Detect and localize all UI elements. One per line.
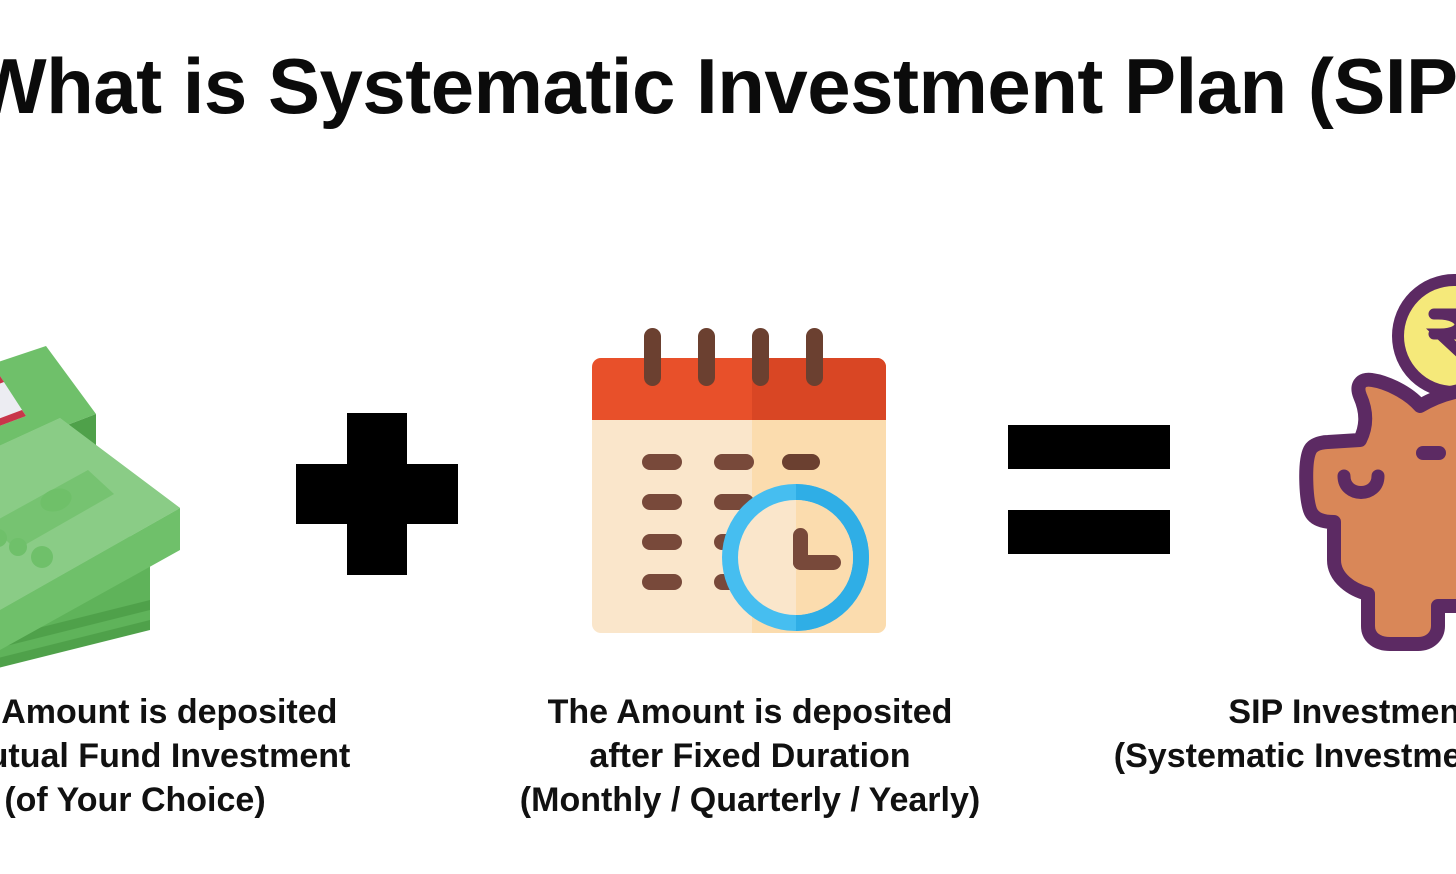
plus-operator [296,413,458,575]
calendar-ring [644,328,661,386]
clock-face [738,500,853,615]
infographic-page: What is Systematic Investment Plan (SIP) [0,0,1456,874]
plus-vertical-bar [347,413,407,575]
caption-line: (of Your Choice) [0,778,380,822]
piggy-bank-icon [1268,260,1456,660]
calendar-dash [782,454,820,470]
equals-bottom-bar [1008,510,1170,554]
piggy-eye [1416,446,1446,460]
caption-money: The Amount is deposited in Mutual Fund I… [0,690,380,822]
calendar-ring [752,328,769,386]
step-money: 100 20 [0,250,296,670]
clock-icon [722,484,869,631]
caption-line: The Amount is deposited [0,690,380,734]
caption-line: SIP Investment [1100,690,1456,734]
equals-top-bar [1008,425,1170,469]
caption-line: (Monthly / Quarterly / Yearly) [440,778,1060,822]
page-title: What is Systematic Investment Plan (SIP) [0,46,1456,128]
money-stack-icon: 100 20 [0,310,250,710]
calendar-ring [698,328,715,386]
calendar-dash [642,494,682,510]
caption-line: The Amount is deposited [440,690,1060,734]
piggy-body [1306,380,1456,644]
equals-operator [1008,425,1170,553]
caption-piggy: SIP Investment (Systematic Investment Pl… [1100,690,1456,778]
calendar-dash [714,454,754,470]
piggy-coin [1392,274,1456,398]
calendar-dash [642,534,682,550]
icon-row: 100 20 [0,250,1456,670]
caption-calendar: The Amount is deposited after Fixed Dura… [440,690,1060,822]
caption-line: in Mutual Fund Investment [0,734,380,778]
calendar-header [592,358,886,420]
calendar-clock-icon [570,325,900,655]
caption-line: after Fixed Duration [440,734,1060,778]
calendar-dash [642,454,682,470]
calendar-dash [642,574,682,590]
clock-minute-hand [793,555,841,570]
calendar-ring [806,328,823,386]
caption-line: (Systematic Investment Plan) [1100,734,1456,778]
